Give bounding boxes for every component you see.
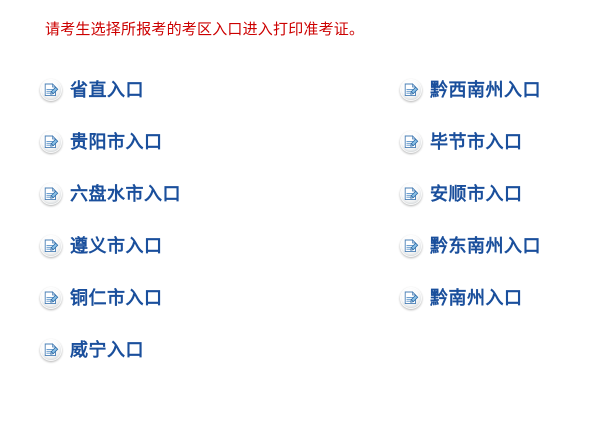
entry-link-row[interactable]: 铜仁市入口 — [40, 272, 181, 324]
document-pencil-icon — [400, 131, 422, 153]
document-pencil-icon — [400, 183, 422, 205]
document-pencil-icon — [400, 287, 422, 309]
document-pencil-icon — [40, 339, 62, 361]
entry-link-label[interactable]: 威宁入口 — [70, 340, 144, 360]
instruction-notice: 请考生选择所报考的考区入口进入打印准考证。 — [45, 20, 364, 40]
entry-column-right: 黔西南州入口 毕节市入口 — [400, 64, 541, 324]
entry-link-label[interactable]: 黔西南州入口 — [430, 80, 541, 100]
entry-link-row[interactable]: 六盘水市入口 — [40, 168, 181, 220]
entry-link-label[interactable]: 毕节市入口 — [430, 132, 523, 152]
entry-link-row[interactable]: 黔南州入口 — [400, 272, 541, 324]
document-pencil-icon — [400, 79, 422, 101]
entry-link-row[interactable]: 安顺市入口 — [400, 168, 541, 220]
document-pencil-icon — [40, 131, 62, 153]
document-pencil-icon — [400, 235, 422, 257]
document-pencil-icon — [40, 183, 62, 205]
entry-link-row[interactable]: 黔东南州入口 — [400, 220, 541, 272]
entry-link-label[interactable]: 安顺市入口 — [430, 184, 523, 204]
entry-link-label[interactable]: 黔南州入口 — [430, 288, 523, 308]
document-pencil-icon — [40, 235, 62, 257]
entry-link-label[interactable]: 六盘水市入口 — [70, 184, 181, 204]
entry-link-label[interactable]: 遵义市入口 — [70, 236, 163, 256]
entry-link-label[interactable]: 省直入口 — [70, 80, 144, 100]
entry-link-label[interactable]: 黔东南州入口 — [430, 236, 541, 256]
entry-link-row[interactable]: 威宁入口 — [40, 324, 181, 376]
document-pencil-icon — [40, 79, 62, 101]
entry-column-left: 省直入口 贵阳市入口 — [40, 64, 181, 376]
entry-link-row[interactable]: 贵阳市入口 — [40, 116, 181, 168]
entry-link-row[interactable]: 遵义市入口 — [40, 220, 181, 272]
entry-link-label[interactable]: 铜仁市入口 — [70, 288, 163, 308]
entry-link-row[interactable]: 黔西南州入口 — [400, 64, 541, 116]
document-pencil-icon — [40, 287, 62, 309]
entry-link-label[interactable]: 贵阳市入口 — [70, 132, 163, 152]
entry-link-row[interactable]: 省直入口 — [40, 64, 181, 116]
entry-link-row[interactable]: 毕节市入口 — [400, 116, 541, 168]
